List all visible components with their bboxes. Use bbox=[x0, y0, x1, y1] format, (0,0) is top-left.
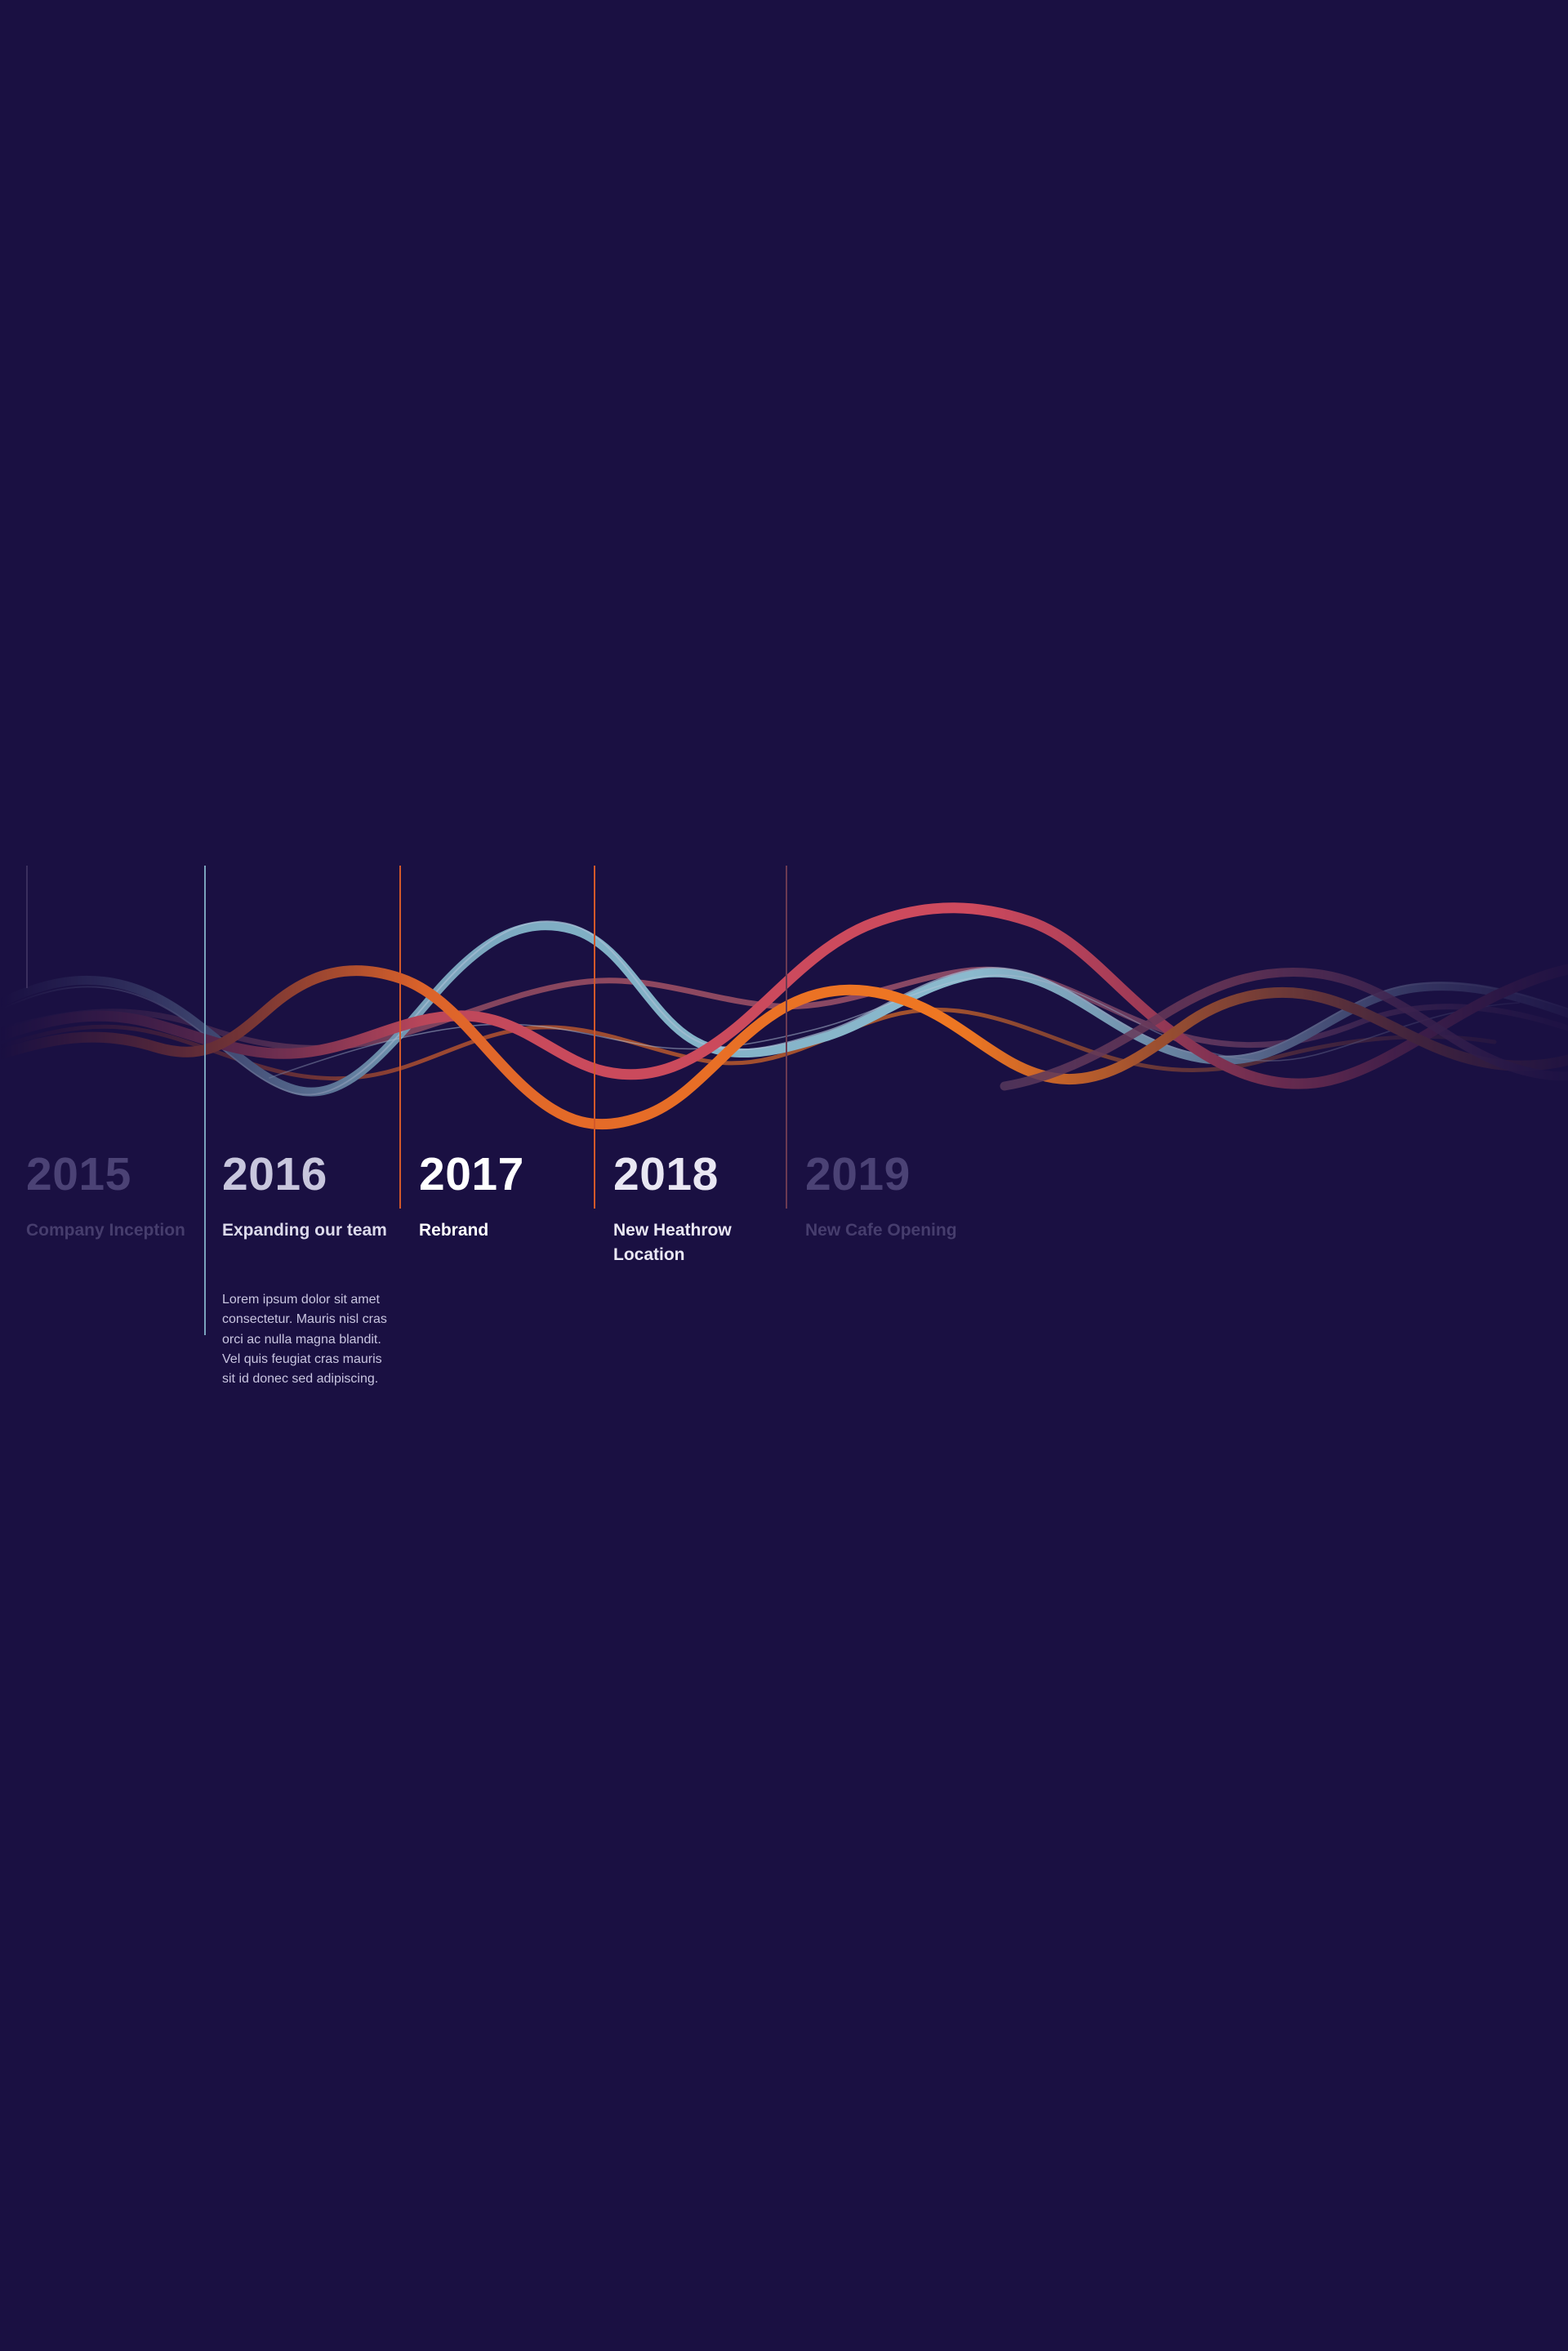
connector-line-2017 bbox=[399, 866, 401, 1209]
timeline-subtitle-2016: Expanding our team bbox=[222, 1218, 398, 1243]
timeline-entries: 2015 Company Inception 2016 Expanding ou… bbox=[0, 1127, 1568, 1650]
ribbon-orange-thin bbox=[0, 1009, 1494, 1078]
ribbon-blue-hairline-2 bbox=[269, 975, 1519, 1078]
ribbon-blue-hairline bbox=[0, 921, 1568, 1094]
timeline-subtitle-2015: Company Inception bbox=[26, 1218, 202, 1243]
timeline-year-2015: 2015 bbox=[26, 1151, 131, 1198]
timeline-subtitle-2019: New Cafe Opening bbox=[805, 1218, 981, 1243]
timeline-subtitle-2017: Rebrand bbox=[419, 1218, 595, 1243]
timeline-year-2017: 2017 bbox=[419, 1151, 524, 1198]
ribbon-mauve-thin bbox=[0, 969, 1568, 1048]
connector-line-2015 bbox=[26, 866, 28, 988]
timeline-year-2016: 2016 bbox=[222, 1151, 327, 1198]
timeline-year-2018: 2018 bbox=[613, 1151, 719, 1198]
timeline-subtitle-2018: New Heathrow Location bbox=[613, 1218, 789, 1267]
ribbon-mauve-tail bbox=[1004, 972, 1568, 1086]
timeline-body-2016: Lorem ipsum dolor sit amet consectetur. … bbox=[222, 1290, 394, 1390]
ribbon-red-thick bbox=[0, 908, 1568, 1084]
wave-backdrop bbox=[0, 833, 1568, 1160]
ribbon-blue-thick bbox=[0, 926, 1568, 1093]
connector-line-2019 bbox=[786, 866, 787, 1209]
connector-line-2018 bbox=[594, 866, 595, 1209]
timeline-page: 2015 Company Inception 2016 Expanding ou… bbox=[0, 0, 1568, 2351]
ribbon-orange-thick bbox=[0, 971, 1568, 1124]
connector-line-2016 bbox=[204, 866, 206, 1335]
timeline-year-2019: 2019 bbox=[805, 1151, 911, 1198]
